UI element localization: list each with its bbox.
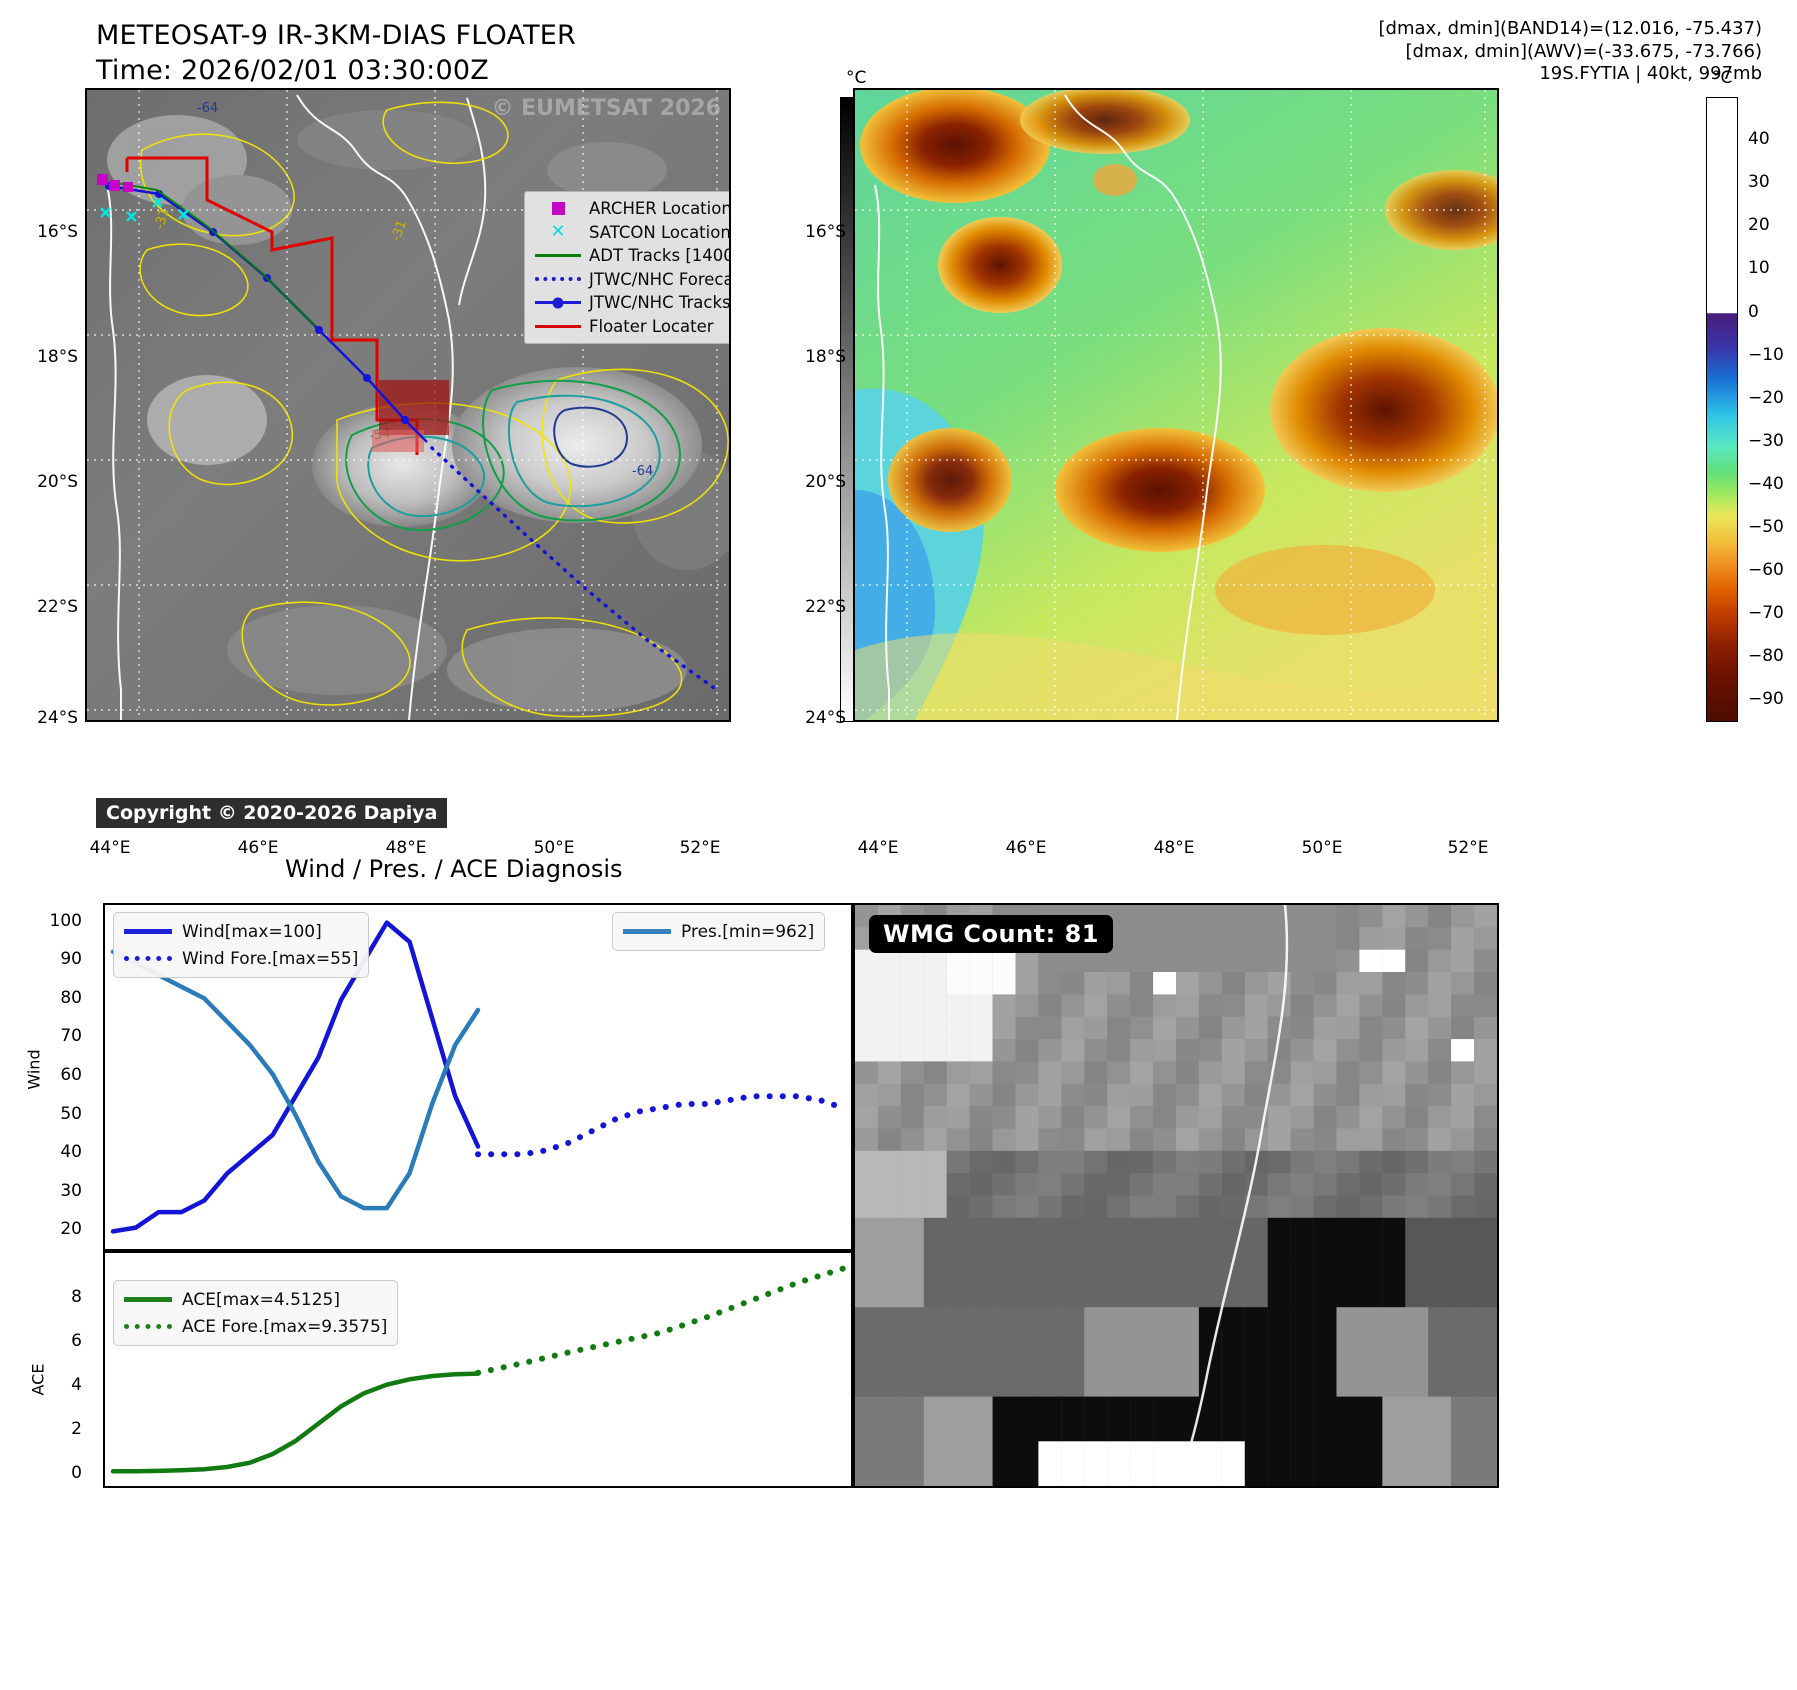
legend-label: Floater Locater [585,317,714,336]
dashboard-root: METEOSAT-9 IR-3KM-DIAS FLOATER Time: 202… [0,0,1797,1690]
page-subtitle-time: Time: 2026/02/01 03:30:00Z [96,55,489,86]
stats-band14: [dmax, dmin](BAND14)=(12.016, -75.437) [1379,18,1762,41]
legend-item-pressure: Pres.[min=962] [623,918,814,945]
legend-label: Pres.[min=962] [681,922,814,942]
legend-item-ace: ACE[max=4.5125] [124,1286,387,1313]
axis-tick-label: 90 [30,949,82,969]
legend-label: Wind[max=100] [182,922,322,942]
colorbar-tick-label: −80 [1748,646,1784,666]
axis-tick-label: 0 [30,1463,82,1483]
wmg-count-badge: WMG Count: 81 [869,915,1113,953]
svg-text:-64: -64 [197,101,218,116]
chart-series-line [478,1269,843,1373]
awv-ytick: 20°S [796,472,846,492]
legend-label: JTWC/NHC Tracks [01/0000Z] [585,293,731,312]
charts-title: Wind / Pres. / ACE Diagnosis [285,855,623,883]
axis-tick-label: 80 [30,988,82,1008]
colorbar-tick-label: 20 [1748,215,1770,235]
archer-marker-icon [531,202,585,215]
copyright-badge: Copyright © 2020-2026 Dapiya [96,798,447,828]
axis-tick-label: 30 [30,1181,82,1201]
legend-item-jtwc-tracks: JTWC/NHC Tracks [01/0000Z] [531,291,731,315]
axis-tick-label: 100 [30,911,82,931]
legend-item-adt: ADT Tracks [1400Z 0.0 0.0] [531,244,731,268]
awv-xtick: 50°E [1302,838,1343,858]
axis-tick-label: 50 [30,1104,82,1124]
legend-label: ADT Tracks [1400Z 0.0 0.0] [585,246,731,265]
awv-xtick: 52°E [1448,838,1489,858]
axis-tick-label: 8 [30,1287,82,1307]
awv-ytick: 18°S [796,347,846,367]
colorbar-tick-label: 40 [1748,129,1770,149]
colorbar-tick-label: −10 [1748,345,1784,365]
ace-legend[interactable]: ACE[max=4.5125] ACE Fore.[max=9.3575] [113,1280,398,1346]
ir-ytick: 24°S [28,708,78,728]
floater-line-icon [531,325,585,328]
axis-tick-label: 60 [30,1065,82,1085]
wind-forecast-dotted-icon [124,956,182,961]
axis-tick-label: 40 [30,1142,82,1162]
ace-forecast-dotted-icon [124,1324,182,1329]
ir-ytick: 18°S [28,347,78,367]
colorbar-tick-label: −20 [1748,388,1784,408]
wind-line-icon [124,929,182,934]
awv-ytick: 22°S [796,597,846,617]
legend-label: JTWC/NHC Forecast [01/0000Z] [585,270,731,289]
ir-ytick: 20°S [28,472,78,492]
wind-legend[interactable]: Wind[max=100] Wind Fore.[max=55] [113,912,369,978]
awv-colorbar-gradient [1706,97,1738,722]
legend-item-satcon: ✕ SATCON Locations [0130Z 91 967] [531,221,731,245]
awv-xtick: 46°E [1006,838,1047,858]
legend-item-ace-forecast: ACE Fore.[max=9.3575] [124,1313,387,1340]
chart-series-line [113,1374,478,1472]
colorbar-tick-label: 0 [1748,302,1759,322]
chart-series-line [478,1096,843,1154]
awv-ytick: 24°S [796,708,846,728]
axis-tick-label: 2 [30,1419,82,1439]
ir-ytick: 16°S [28,222,78,242]
awv-ytick: 16°S [796,222,846,242]
axis-tick-label: 70 [30,1026,82,1046]
legend-label: SATCON Locations [0130Z 91 967] [585,223,731,242]
stats-awv: [dmax, dmin](AWV)=(-33.675, -73.766) [1379,41,1762,64]
legend-item-forecast: JTWC/NHC Forecast [01/0000Z] [531,268,731,292]
page-title: METEOSAT-9 IR-3KM-DIAS FLOATER [96,20,576,51]
ir-xtick: 52°E [680,838,721,858]
map-legend[interactable]: ARCHER Locations [1417Z] ✕ SATCON Locati… [524,191,731,344]
axis-tick-label: 4 [30,1375,82,1395]
forecast-dotted-line-icon [531,277,585,281]
awv-xtick: 44°E [858,838,899,858]
stats-storm: 19S.FYTIA | 40kt, 997mb [1379,63,1762,86]
legend-label: Wind Fore.[max=55] [182,949,358,969]
jtwc-track-line-icon [531,301,585,304]
ir-colorbar-unit: °C [846,68,866,88]
legend-item-floater: Floater Locater [531,315,731,339]
ace-line-icon [124,1297,182,1302]
ir-ytick: 22°S [28,597,78,617]
colorbar-tick-label: −60 [1748,560,1784,580]
adt-line-icon [531,254,585,257]
axis-tick-label: 6 [30,1331,82,1351]
legend-label: ARCHER Locations [1417Z] [585,199,731,218]
awv-colorbar-unit: °C [1712,68,1732,88]
ir-xtick: 46°E [238,838,279,858]
legend-item-wind: Wind[max=100] [124,918,358,945]
colorbar-tick-label: −30 [1748,431,1784,451]
header-stats: [dmax, dmin](BAND14)=(12.016, -75.437) [… [1379,18,1762,86]
awv-satellite-image[interactable] [853,88,1499,722]
satcon-marker-icon: ✕ [531,223,585,241]
colorbar-tick-label: −50 [1748,517,1784,537]
legend-label: ACE[max=4.5125] [182,1290,340,1310]
awv-xtick: 48°E [1154,838,1195,858]
colorbar-tick-label: 10 [1748,258,1770,278]
axis-tick-label: 20 [30,1219,82,1239]
pressure-line-icon [623,929,681,934]
pressure-legend[interactable]: Pres.[min=962] [612,912,825,951]
ir-satellite-image[interactable]: -54 -64 -64 -31 -31 [85,88,731,722]
legend-item-wind-forecast: Wind Fore.[max=55] [124,945,358,972]
colorbar-tick-label: −90 [1748,689,1784,709]
ir-xtick: 44°E [90,838,131,858]
wmg-microwave-image[interactable] [853,903,1499,1488]
colorbar-tick-label: −70 [1748,603,1784,623]
colorbar-tick-label: 30 [1748,172,1770,192]
colorbar-tick-label: −40 [1748,474,1784,494]
legend-label: ACE Fore.[max=9.3575] [182,1317,387,1337]
svg-text:-64: -64 [632,464,653,479]
legend-item-archer: ARCHER Locations [1417Z] [531,197,731,221]
